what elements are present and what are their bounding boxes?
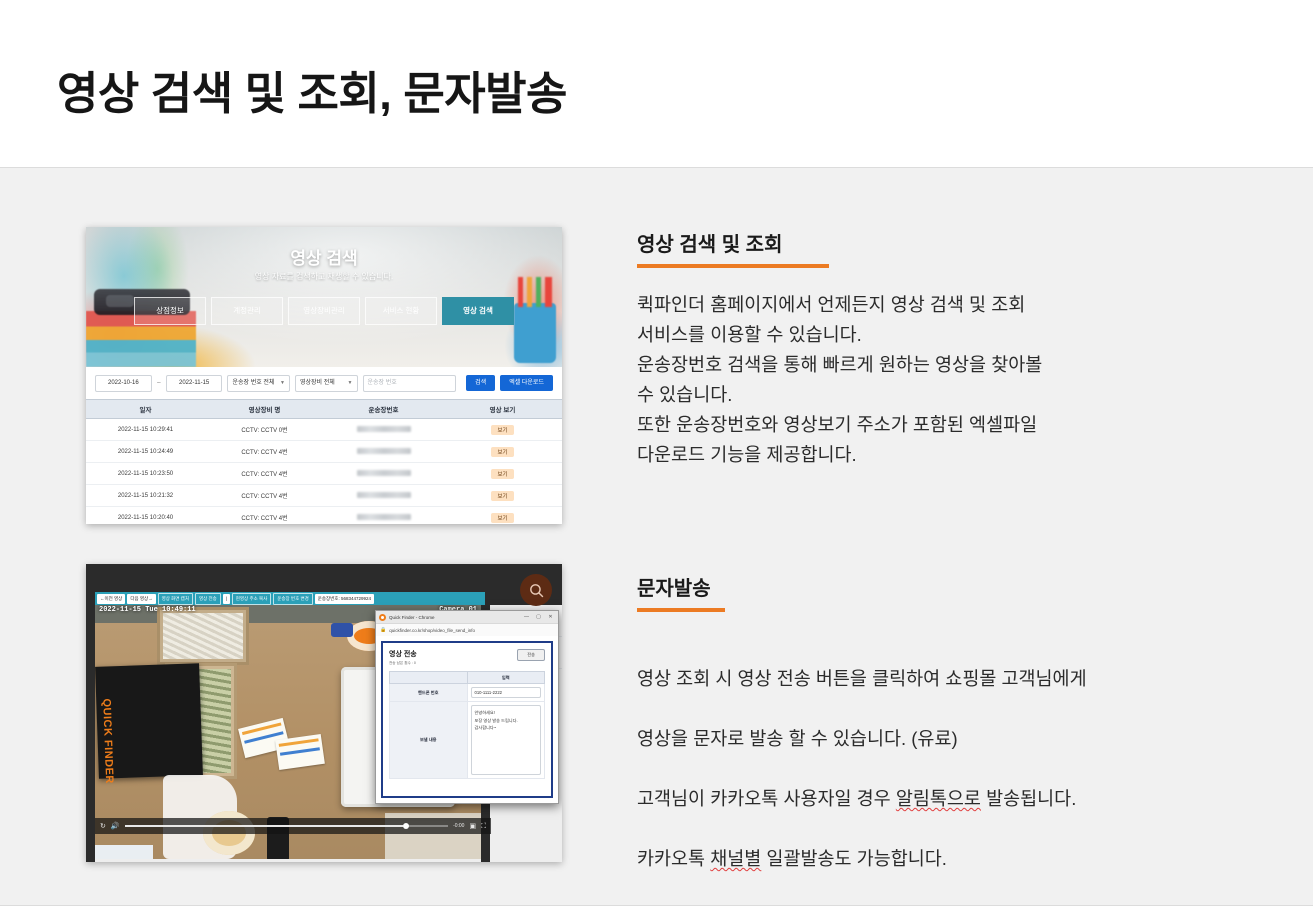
cell-waybill: [324, 485, 443, 507]
redacted-waybill: [357, 470, 411, 476]
extra-toggle-button[interactable]: |: [223, 594, 230, 604]
section-2-heading: 문자발송: [637, 572, 711, 606]
form-header: 영상 전송 전송 남은 횟수 : 0 전송: [389, 649, 545, 666]
cell-date: 2022-11-15 10:24:49: [86, 441, 205, 463]
message-cell: 안녕하세요! 포장 영상 발송 드립니다. 감사합니다~: [467, 702, 545, 779]
message-label: 보낼 내용: [390, 702, 468, 779]
view-button[interactable]: 보기: [491, 425, 513, 435]
column-view: 영상 보기: [443, 400, 562, 419]
form-row-phone: 핸드폰 번호 010-1111-2222: [390, 684, 545, 702]
progress-bar[interactable]: [125, 825, 448, 827]
capture-frame-button[interactable]: 영상 화면 캡처: [158, 593, 193, 605]
phone-input[interactable]: 010-1111-2222: [471, 687, 542, 698]
next-video-button[interactable]: 다음 영상→: [127, 594, 155, 604]
screenshot-video-player: 보기 보기 -15 10:39:13 CCTV: CCTV 1번 5681446…: [86, 564, 562, 862]
send-form-table: 입력 핸드폰 번호 010-1111-2222 보낼 내용: [389, 671, 545, 779]
page-title: 영상 검색 및 조회, 문자발송: [57, 57, 567, 122]
picture-in-picture-icon[interactable]: ▣: [469, 823, 476, 830]
tab-video-search[interactable]: 영상 검색: [442, 297, 514, 325]
phone-label: 핸드폰 번호: [390, 684, 468, 702]
waybill-filter-select[interactable]: 운송장 번호 전체 ▼: [227, 375, 290, 392]
form-title: 영상 전송: [389, 649, 417, 659]
section-1-heading: 영상 검색 및 조회: [637, 228, 782, 262]
section-1-body: 퀵파인더 홈페이지에서 언제든지 영상 검색 및 조회 서비스를 이용할 수 있…: [637, 290, 1042, 470]
video-results-table: 일자 영상장비 명 운송장번호 영상 보기 2022-11-15 10:29:4…: [86, 399, 562, 524]
cell-device: CCTV: CCTV 4번: [205, 507, 324, 525]
view-button[interactable]: 보기: [491, 469, 513, 479]
view-button[interactable]: 보기: [491, 447, 513, 457]
date-separator: ~: [157, 380, 161, 387]
section-1-underline: [637, 264, 829, 268]
column-waybill: 운송장번호: [324, 400, 443, 419]
send-button[interactable]: 전송: [517, 649, 545, 661]
screenshot-video-search-page: 영상 검색 영상 자료를 검색하고 재생할 수 있습니다. 상점정보 계정관리 …: [86, 227, 562, 524]
table-header-row: 일자 영상장비 명 운송장번호 영상 보기: [86, 400, 562, 419]
form-col-input: 입력: [467, 672, 545, 684]
spellcheck-alimtalk: 알림톡으로: [896, 788, 981, 809]
cell-device: CCTV: CCTV 4번: [205, 441, 324, 463]
chrome-content: 영상 전송 전송 남은 횟수 : 0 전송 입력 핸드폰 번호: [376, 636, 558, 803]
table-row[interactable]: 2022-11-15 10:24:49 CCTV: CCTV 4번 보기: [86, 441, 562, 463]
cell-view: 보기: [443, 507, 562, 525]
redacted-waybill: [357, 492, 411, 498]
close-button[interactable]: ✕: [546, 614, 555, 620]
date-to-input[interactable]: 2022-11-15: [166, 375, 223, 392]
search-toolbar: 2022-10-16 ~ 2022-11-15 운송장 번호 전체 ▼ 영상장비…: [86, 367, 562, 399]
fullscreen-icon[interactable]: ⛶: [481, 823, 486, 830]
send-video-button[interactable]: 영상 전송: [195, 593, 221, 605]
tab-store-info[interactable]: 상점정보: [134, 297, 206, 325]
cell-view: 보기: [443, 463, 562, 485]
prev-video-button[interactable]: ←이전 영상: [97, 594, 125, 604]
section-2-line-1: 영상 조회 시 영상 전송 버튼을 클릭하여 쇼핑몰 고객님에게: [637, 664, 1087, 694]
scene-quickfinder-box: QUICK FINDER: [95, 663, 203, 779]
section-2-underline: [637, 608, 725, 612]
footer-strip: [0, 906, 1313, 911]
scene-bin-envelopes: [157, 607, 249, 665]
cell-date: 2022-11-15 10:21:32: [86, 485, 205, 507]
table-row[interactable]: 2022-11-15 10:21:32 CCTV: CCTV 4번 보기: [86, 485, 562, 507]
chrome-window-title: Quick Finder - Chrome: [389, 615, 519, 620]
section-video-search: 영상 검색 및 조회 퀵파인더 홈페이지에서 언제든지 영상 검색 및 조회 서…: [637, 228, 1042, 470]
form-row-message: 보낼 내용 안녕하세요! 포장 영상 발송 드립니다. 감사합니다~: [390, 702, 545, 779]
slide: 영상 검색 및 조회, 문자발송 영상 검색 및 조회 퀵파인더 홈페이지에서 …: [0, 0, 1313, 911]
form-header-text: 영상 전송 전송 남은 횟수 : 0: [389, 649, 417, 666]
cell-waybill: [324, 507, 443, 525]
cell-device: CCTV: CCTV 0번: [205, 419, 324, 441]
favicon-icon: [379, 614, 386, 621]
replay-icon[interactable]: ↻: [100, 823, 106, 830]
chevron-down-icon: ▼: [280, 376, 285, 391]
form-header-row: 입력: [390, 672, 545, 684]
redacted-waybill: [357, 426, 411, 432]
table-row[interactable]: 2022-11-15 10:29:41 CCTV: CCTV 0번 보기: [86, 419, 562, 441]
date-from-input[interactable]: 2022-10-16: [95, 375, 152, 392]
section-2-line-2: 영상을 문자로 발송 할 수 있습니다. (유료): [637, 724, 1087, 754]
phone-cell: 010-1111-2222: [467, 684, 545, 702]
redacted-waybill: [357, 448, 411, 454]
table-row[interactable]: 2022-11-15 10:23:50 CCTV: CCTV 4번 보기: [86, 463, 562, 485]
chrome-popup-window[interactable]: Quick Finder - Chrome — ▢ ✕ 🔒 quickfinde…: [375, 610, 559, 804]
excel-download-button[interactable]: 엑셀 다운로드: [500, 375, 553, 391]
copy-video-url-button[interactable]: 현영상 주소 복사: [232, 593, 271, 605]
cell-date: 2022-11-15 10:29:41: [86, 419, 205, 441]
hero-banner: 영상 검색 영상 자료를 검색하고 재생할 수 있습니다. 상점정보 계정관리 …: [86, 227, 562, 367]
cell-device: CCTV: CCTV 4번: [205, 463, 324, 485]
form-col-label: [390, 672, 468, 684]
chevron-down-icon: ▼: [348, 376, 353, 391]
hero-subtitle: 영상 자료를 검색하고 재생할 수 있습니다.: [86, 271, 562, 282]
slide-header: 영상 검색 및 조회, 문자발송: [0, 0, 1313, 168]
section-2-line-4: 카카오톡 채널별 일괄발송도 가능합니다.: [637, 844, 1087, 874]
scene-shipping-label: [275, 734, 325, 770]
section-2-line-3: 고객님이 카카오톡 사용자일 경우 알림톡으로 발송됩니다.: [637, 784, 1087, 814]
time-remaining: -0:00: [453, 823, 464, 829]
send-video-form: 영상 전송 전송 남은 횟수 : 0 전송 입력 핸드폰 번호: [381, 641, 553, 798]
video-timestamp-overlay: 2022-11-15 Tue 10:49:11: [99, 606, 196, 614]
cell-view: 보기: [443, 485, 562, 507]
url-text: quickfinder.co.kr/shop/video_file_send_i…: [389, 628, 475, 633]
tab-account[interactable]: 계정관리: [211, 297, 283, 325]
search-icon[interactable]: [520, 574, 552, 606]
device-filter-select[interactable]: 영상장비 전체 ▼: [295, 375, 358, 392]
cell-date: 2022-11-15 10:23:50: [86, 463, 205, 485]
lock-icon: 🔒: [380, 627, 386, 633]
message-textarea[interactable]: 안녕하세요! 포장 영상 발송 드립니다. 감사합니다~: [471, 705, 542, 775]
cell-waybill: [324, 441, 443, 463]
minimize-button[interactable]: —: [522, 614, 531, 620]
player-controls: ↻ 🔊 -0:00 ▣ ⛶: [95, 818, 491, 834]
quickfinder-logo: QUICK FINDER: [100, 698, 115, 784]
scene-white-box: [95, 845, 153, 859]
view-button[interactable]: 보기: [491, 491, 513, 501]
cell-view: 보기: [443, 419, 562, 441]
cell-view: 보기: [443, 441, 562, 463]
change-waybill-button[interactable]: 운송장 번호 변경: [273, 593, 312, 605]
player-toolbar: ←이전 영상 다음 영상→ 영상 화면 캡처 영상 전송 | 현영상 주소 복사…: [95, 592, 485, 605]
remaining-count: 전송 남은 횟수 : 0: [389, 661, 417, 666]
section-2-body: 영상 조회 시 영상 전송 버튼을 클릭하여 쇼핑몰 고객님에게 영상을 문자로…: [637, 634, 1087, 904]
maximize-button[interactable]: ▢: [534, 614, 543, 620]
table-row[interactable]: 2022-11-15 10:20:40 CCTV: CCTV 4번 보기: [86, 507, 562, 525]
hero-tab-bar: 상점정보 계정관리 영상장비관리 서비스 현황 영상 검색: [86, 297, 562, 325]
spellcheck-channel: 채널별: [710, 848, 761, 869]
device-filter-value: 영상장비 전체: [300, 376, 335, 391]
column-device: 영상장비 명: [205, 400, 324, 419]
view-button[interactable]: 보기: [491, 513, 513, 523]
section-sms-send: 문자발송 영상 조회 시 영상 전송 버튼을 클릭하여 쇼핑몰 고객님에게 영상…: [637, 572, 1087, 904]
waybill-filter-value: 운송장 번호 전체: [232, 376, 274, 391]
cell-date: 2022-11-15 10:20:40: [86, 507, 205, 525]
player-backdrop: 보기 보기 -15 10:39:13 CCTV: CCTV 1번 5681446…: [86, 564, 562, 862]
cell-waybill: [324, 419, 443, 441]
tab-device-manage[interactable]: 영상장비관리: [288, 297, 360, 325]
waybill-number-label: 운송장번호: 568344729924: [315, 594, 374, 604]
volume-icon[interactable]: 🔊: [111, 823, 120, 830]
tab-service-status[interactable]: 서비스 현황: [365, 297, 437, 325]
redacted-waybill: [357, 514, 411, 520]
hero-title: 영상 검색: [86, 244, 562, 269]
chrome-titlebar: Quick Finder - Chrome — ▢ ✕: [376, 611, 558, 624]
column-date: 일자: [86, 400, 205, 419]
search-button[interactable]: 검색: [466, 375, 495, 391]
cell-waybill: [324, 463, 443, 485]
waybill-search-input[interactable]: 운송장 번호: [363, 375, 457, 392]
cell-device: CCTV: CCTV 4번: [205, 485, 324, 507]
